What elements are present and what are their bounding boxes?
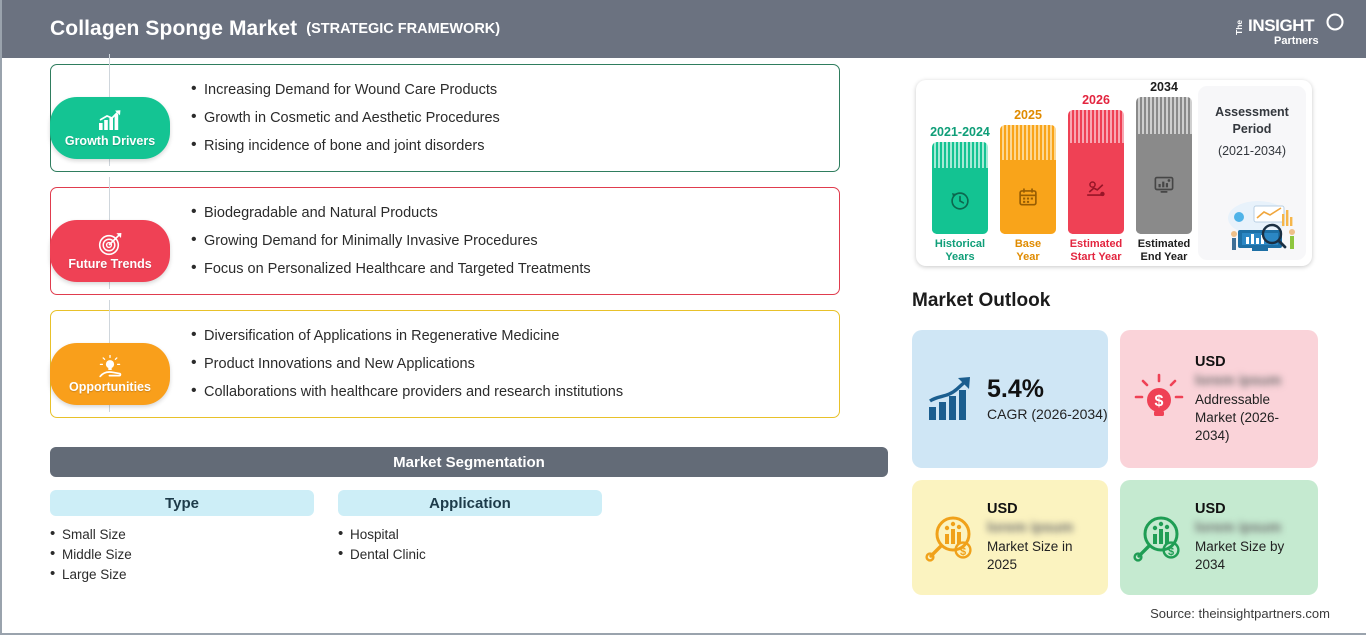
lightbulb-dollar-icon: $ (1133, 373, 1185, 425)
timeline-caption: Estimated End Year (1132, 238, 1196, 264)
svg-text:Partners: Partners (1274, 35, 1319, 47)
list-item: Middle Size (50, 545, 314, 565)
insight-partners-logo: The INSIGHT Partners (1232, 9, 1350, 49)
badge-label: Growth Drivers (65, 134, 155, 148)
timeline-caption: Base Year (996, 238, 1060, 264)
page-subtitle: (STRATEGIC FRAMEWORK) (306, 21, 500, 37)
timeline-year: 2026 (1064, 93, 1128, 107)
timeline-caption: Historical Years (928, 238, 992, 264)
list-item: Small Size (50, 525, 314, 545)
badge-future-trends[interactable]: Future Trends (50, 220, 170, 282)
list-item: Dental Clinic (338, 545, 602, 565)
card-caption: Market Size by 2034 (1195, 538, 1313, 574)
card-market-size-2034: $ USD lorem ipsum Market Size by 2034 (1120, 480, 1318, 595)
timeline-item-estimated-start: 2026 Estimated (1064, 93, 1128, 264)
monitor-chart-icon (1153, 173, 1175, 195)
list-item: Growth in Cosmetic and Aesthetic Procedu… (191, 104, 839, 132)
list-item: Growing Demand for Minimally Invasive Pr… (191, 227, 839, 255)
assessment-period-panel: Assessment Period (2021-2034) (1198, 86, 1306, 260)
segmentation-column-type: Type Small Size Middle Size Large Size (50, 490, 314, 585)
list-item: Biodegradable and Natural Products (191, 199, 839, 227)
segmentation-type-list: Small Size Middle Size Large Size (50, 525, 314, 585)
svg-text:$: $ (1155, 393, 1164, 410)
svg-text:$: $ (1168, 546, 1174, 558)
list-item: Product Innovations and New Applications (191, 350, 839, 378)
badge-label: Future Trends (68, 257, 151, 271)
svg-text:$: $ (960, 546, 966, 558)
timeline-year: 2025 (996, 108, 1060, 122)
magnifier-bars-dollar-icon: $ (1133, 512, 1185, 564)
segmentation-column-title: Application (338, 490, 602, 516)
timeline-caption: Estimated Start Year (1064, 238, 1128, 264)
cagr-value: 5.4% (987, 376, 1108, 403)
timeline-item-base: 2025 (996, 108, 1060, 264)
badge-growth-drivers[interactable]: Growth Drivers (50, 97, 170, 159)
page-header: Collagen Sponge Market (STRATEGIC FRAMEW… (2, 0, 1366, 58)
timeline-bar-solid (1136, 134, 1192, 234)
market-outlook-title: Market Outlook (912, 290, 1050, 312)
assessment-period-title: Assessment Period (1198, 104, 1306, 138)
bar-chart-arrow-icon (925, 373, 977, 425)
currency-label: USD (1195, 354, 1313, 370)
magnifier-bars-dollar-icon: $ (925, 512, 977, 564)
source-label: Source: theinsightpartners.com (1150, 606, 1330, 621)
timeline-bar-solid (1000, 160, 1056, 234)
assessment-period-range: (2021-2034) (1198, 144, 1306, 158)
clock-history-icon (949, 190, 971, 212)
badge-label: Opportunities (69, 380, 151, 394)
card-caption: Addressable Market (2026-2034) (1195, 391, 1313, 445)
masked-value: lorem ipsum (1195, 373, 1313, 389)
card-market-size-2025: $ USD lorem ipsum Market Size in 2025 (912, 480, 1108, 595)
badge-opportunities[interactable]: Opportunities (50, 343, 170, 405)
segmentation-column-title: Type (50, 490, 314, 516)
timeline-item-estimated-end: 2034 (1132, 80, 1196, 264)
card-addressable-market: $ USD lorem ipsum Addressable Market (20… (1120, 330, 1318, 468)
bar-chart-arrow-icon (97, 109, 123, 133)
masked-value: lorem ipsum (1195, 520, 1313, 536)
timeline-bars: 2021-2024 Historical Ye (928, 80, 1188, 266)
card-cagr: 5.4% CAGR (2026-2034) (912, 330, 1108, 468)
card-caption: Market Size in 2025 (987, 538, 1105, 574)
timeline-item-historical: 2021-2024 Historical Ye (928, 125, 992, 264)
svg-text:The: The (1234, 20, 1244, 35)
page-title: Collagen Sponge Market (50, 17, 297, 41)
list-item: Collaborations with healthcare providers… (191, 378, 839, 406)
list-item: Focus on Personalized Healthcare and Tar… (191, 255, 839, 283)
growth-chart-gear-icon (1085, 178, 1107, 200)
list-item: Large Size (50, 565, 314, 585)
market-segmentation-header: Market Segmentation (50, 447, 888, 477)
analytics-illustration-icon (1202, 192, 1302, 254)
segmentation-application-list: Hospital Dental Clinic (338, 525, 602, 565)
svg-text:INSIGHT: INSIGHT (1248, 16, 1315, 35)
currency-label: USD (987, 501, 1105, 517)
assessment-timeline-card: 2021-2024 Historical Ye (916, 80, 1312, 266)
left-column: Increasing Demand for Wound Care Product… (2, 58, 902, 635)
timeline-bar-solid (1068, 143, 1124, 234)
right-column: 2021-2024 Historical Ye (902, 58, 1366, 635)
list-item: Diversification of Applications in Regen… (191, 322, 839, 350)
target-dart-icon (97, 232, 123, 256)
masked-value: lorem ipsum (987, 520, 1105, 536)
currency-label: USD (1195, 501, 1313, 517)
cagr-caption: CAGR (2026-2034) (987, 406, 1108, 422)
list-item: Rising incidence of bone and joint disor… (191, 132, 839, 160)
timeline-year: 2034 (1132, 80, 1196, 94)
calendar-icon (1017, 186, 1039, 208)
timeline-bar-solid (932, 168, 988, 234)
infographic-page: Collagen Sponge Market (STRATEGIC FRAMEW… (0, 0, 1366, 635)
timeline-year: 2021-2024 (928, 125, 992, 139)
list-item: Increasing Demand for Wound Care Product… (191, 76, 839, 104)
segmentation-column-application: Application Hospital Dental Clinic (338, 490, 602, 565)
list-item: Hospital (338, 525, 602, 545)
lightbulb-hand-icon (97, 355, 123, 379)
